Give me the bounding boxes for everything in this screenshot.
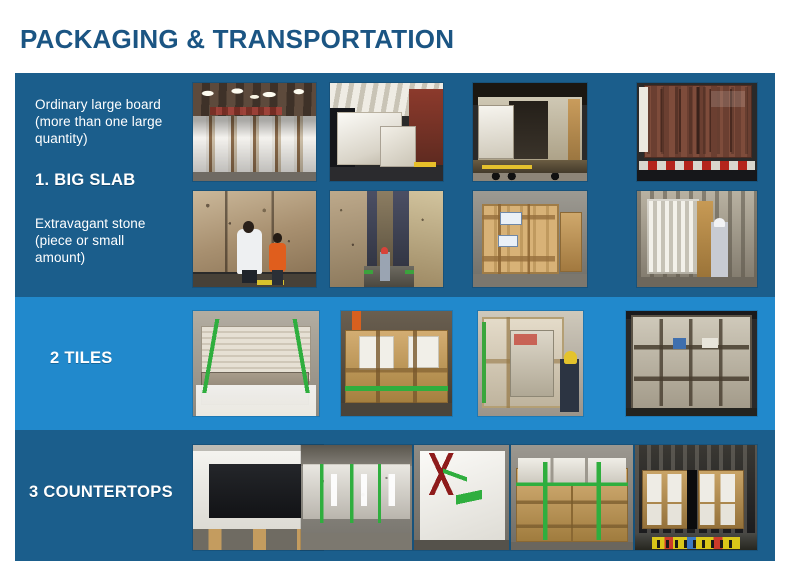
photo-worker-loading-crate-into-container bbox=[637, 191, 757, 287]
photo-white-slab-bundles-in-warehouse bbox=[193, 83, 316, 181]
page-title: PACKAGING & TRANSPORTATION bbox=[20, 24, 454, 55]
photo-granite-countertops-strapped-on-pallet bbox=[301, 445, 412, 550]
photo-slabs-loaded-under-warehouse-roof bbox=[330, 83, 443, 181]
photo-wrapped-countertop-with-red-and-green-straps bbox=[414, 445, 509, 550]
photo-crates-stuffed-inside-container bbox=[626, 311, 757, 416]
label-extravagant-stone: Extravagant stone (piece or small amount… bbox=[35, 215, 175, 266]
photo-wooden-crates-of-tiles-on-pallets bbox=[341, 311, 452, 416]
label-countertops: 3 COUNTERTOPS bbox=[29, 483, 173, 502]
photo-worker-in-slab-storage-aisle bbox=[330, 191, 443, 287]
packaging-panel: Ordinary large board (more than one larg… bbox=[15, 73, 775, 561]
photo-row-ordinary-large-board bbox=[178, 83, 775, 181]
label-ordinary-large-board: Ordinary large board (more than one larg… bbox=[35, 96, 175, 147]
photo-row-countertops bbox=[178, 445, 775, 550]
label-tiles: 2 TILES bbox=[50, 349, 113, 368]
label-big-slab: 1. BIG SLAB bbox=[35, 171, 135, 190]
slide-root: PACKAGING & TRANSPORTATION Ordinary larg… bbox=[0, 0, 790, 584]
photo-loaded-shipping-container-on-truck bbox=[637, 83, 757, 181]
label-column: Ordinary large board (more than one larg… bbox=[15, 73, 178, 561]
photo-wooden-crates-of-countertops-banded bbox=[511, 445, 633, 550]
photo-crate-being-wrapped-by-worker bbox=[478, 311, 583, 416]
photo-slabs-inside-open-flatbed-trailer bbox=[473, 83, 587, 181]
photo-wooden-crates-with-labels bbox=[473, 191, 587, 287]
photo-row-extravagant-stone bbox=[178, 191, 775, 287]
photo-row-tiles bbox=[178, 311, 775, 416]
photo-strapped-tile-bundle-on-pallet bbox=[193, 311, 319, 416]
photo-workers-inspecting-granite-slabs bbox=[193, 191, 316, 287]
photo-countertop-crates-loaded-in-container bbox=[635, 445, 757, 550]
